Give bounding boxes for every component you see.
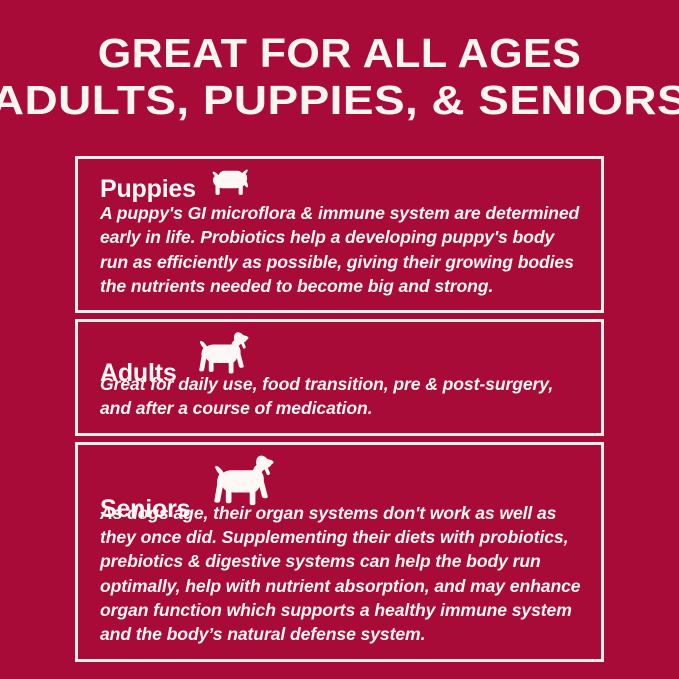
panel-adults-header: Adults <box>100 332 585 371</box>
panel-seniors-header: Seniors <box>100 455 585 500</box>
puppy-dog-silhouette-icon <box>208 169 254 199</box>
headline-line-1: GREAT FOR ALL AGES <box>0 30 679 77</box>
senior-dog-silhouette-icon <box>205 455 289 507</box>
panel-puppies-header: Puppies <box>100 169 585 200</box>
headline-line-2: ADULTS, PUPPIES, & SENIORS <box>0 77 679 124</box>
page-title: GREAT FOR ALL AGES ADULTS, PUPPIES, & SE… <box>0 30 679 124</box>
panel-seniors-title: Seniors <box>100 494 190 524</box>
panel-puppies-body: A puppy's GI microflora & immune system … <box>100 201 585 298</box>
panel-adults-title: Adults <box>100 358 177 388</box>
product-info-poster: GREAT FOR ALL AGES ADULTS, PUPPIES, & SE… <box>0 0 679 679</box>
panel-seniors: Seniors As dogs age, their organ systems… <box>75 442 604 662</box>
age-group-panel-list: Puppies A puppy's GI microflora & immune… <box>75 156 604 662</box>
panel-puppies-title: Puppies <box>100 174 196 204</box>
panel-puppies: Puppies A puppy's GI microflora & immune… <box>75 156 604 313</box>
adult-dog-silhouette-icon <box>191 332 263 375</box>
panel-adults: Adults Great for daily use, food transit… <box>75 319 604 436</box>
